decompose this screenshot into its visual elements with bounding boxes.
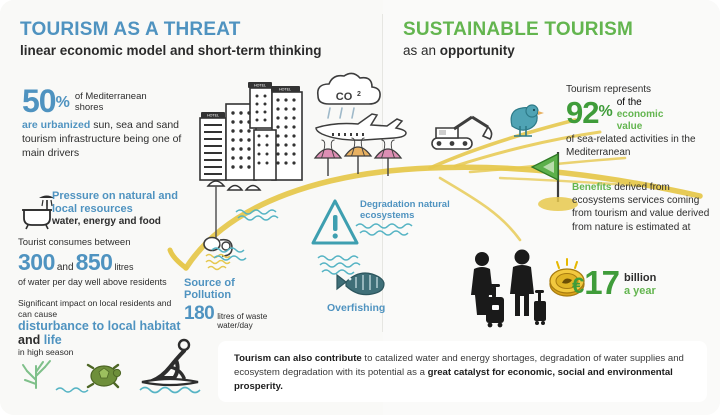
sustainable-panel-title: SUSTAINABLE TOURISM [403,20,633,40]
stat-urbanized-shores: 50 % of Mediterranean shores are urbaniz… [22,86,197,160]
stat-value-unit: billion a year [624,272,656,297]
label-degradation-ecosystems: Degradation natural ecosystems [360,199,470,222]
label-overfishing: Overfishing [327,302,385,314]
infographic-root: HOTEL HOTEL HOTEL [0,0,720,415]
stat-pressure-headline: Pressure on natural and local resources [52,190,194,216]
label-source-of-pollution: Source of Pollution 180 litres of waste … [184,277,294,330]
label-pollution-unit-line2: water/day [217,321,253,330]
stat-economic-footnote: of sea-related activities in the Mediter… [566,133,716,159]
stat-value-unit-line2: a year [624,285,656,297]
stat-urbanized-percent-symbol: % [56,94,70,112]
stat-economic-number: 92 [566,95,598,131]
stat-pressure-subline: water, energy and food [52,216,194,229]
stat-value-billion: € 17 billion a year [572,268,720,299]
stat-water-footnote: of water per day well above residents [18,277,198,287]
label-pollution-unit: litres of waste water/day [217,312,267,331]
label-pollution-number: 180 [184,303,214,325]
stat-economic-side-highlight-2: value [617,121,643,132]
stat-disturbance-highlight: disturbance to local habitat and life [18,319,183,347]
stat-disturbance-post: in high season [18,347,183,357]
stat-pressure-resources: Pressure on natural and local resources … [52,190,194,229]
stat-disturbance-habitat: Significant impact on local residents an… [18,298,183,357]
stat-economic-percent-symbol: % [598,103,612,121]
stat-economic-lead: Tourism represents [566,84,716,95]
banner-bold-start: Tourism can also contribute [234,353,362,364]
label-pollution-title: Source of Pollution [184,277,294,302]
stat-urbanized-side-text: of Mediterranean shores [75,91,147,114]
stat-benefits-ecosystems: Benefits derived from ecosystems service… [572,181,720,234]
label-pollution-line1: Source of [184,277,235,289]
stat-economic-value: Tourism represents 92 % of the economic … [566,84,716,159]
stat-disturbance-mid: and [18,333,44,347]
stat-economic-side: of the economic value [617,97,664,132]
sustainable-subtitle-light: as an [403,43,440,58]
stat-disturbance-highlight-1: disturbance to local habitat [18,319,181,333]
panel-divider [382,14,383,332]
stat-urbanized-body-highlight: are urbanized [22,119,90,131]
stat-disturbance-highlight-2: life [44,333,62,347]
stat-water-conjunction: and [57,262,74,273]
stat-economic-side-highlight-1: economic [617,109,664,120]
stat-benefits-text: Benefits derived from ecosystems service… [572,181,720,234]
stat-water-lead: Tourist consumes between [18,237,198,248]
stat-water-number-low: 300 [18,249,55,276]
stat-benefits-highlight: Benefits [572,182,611,193]
sustainable-subtitle-bold: opportunity [440,43,515,58]
stat-urbanized-number: 50 [22,86,56,116]
stat-value-number: 17 [584,268,619,298]
label-pollution-line2: Pollution [184,289,231,301]
stat-water-numbers: 300 and 850 litres [18,249,198,276]
label-pollution-unit-line1: litres of waste [217,312,267,321]
sustainable-panel-subtitle: as an opportunity [403,43,703,59]
label-degradation-line2: ecosystems [360,210,414,221]
label-degradation-line1: Degradation natural [360,199,450,210]
stat-water-number-high: 850 [76,249,113,276]
threat-panel-title: TOURISM AS A THREAT [20,20,241,40]
stat-urbanized-body: are urbanized sun, sea and sand tourism … [22,119,197,160]
stat-value-unit-line1: billion [624,272,656,284]
stat-urbanized-side-line1: of Mediterranean [75,91,147,102]
stat-urbanized-side-line2: shores [75,102,104,113]
stat-water-consumption: Tourist consumes between 300 and 850 lit… [18,237,198,287]
threat-panel-subtitle: linear economic model and short-term thi… [20,43,370,59]
stat-value-currency: € [572,273,584,299]
stat-water-unit: litres [114,262,133,272]
stat-economic-side-plain: of the [617,97,642,108]
bottom-summary-banner: Tourism can also contribute to catalized… [218,341,707,402]
stat-disturbance-pre: Significant impact on local residents an… [18,298,183,319]
